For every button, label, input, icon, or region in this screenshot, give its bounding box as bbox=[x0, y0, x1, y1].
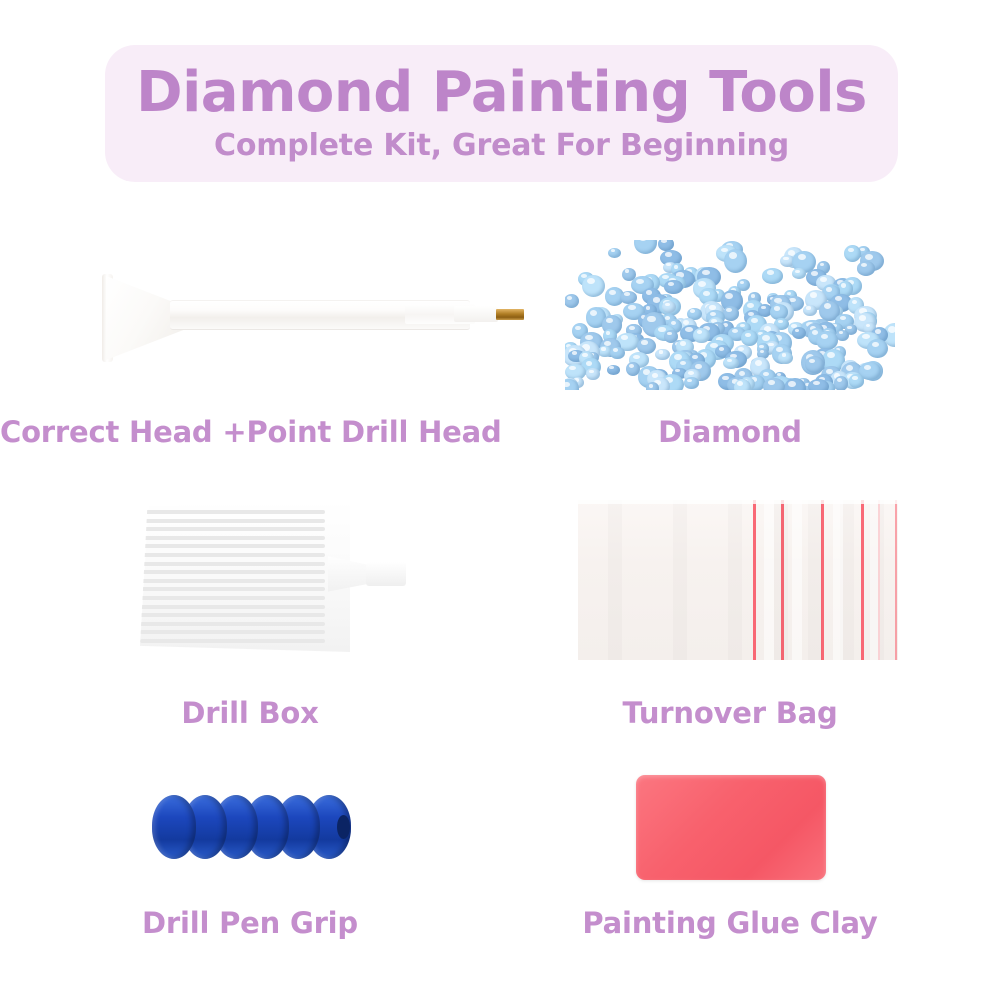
tray-groove bbox=[140, 562, 325, 566]
caption-diamond: Diamond bbox=[500, 415, 960, 449]
pen-grip-hole bbox=[337, 815, 350, 839]
pen-grip-ring bbox=[152, 795, 196, 859]
tray-handle bbox=[366, 562, 406, 586]
diamond-drill bbox=[849, 374, 865, 387]
bag-fold bbox=[774, 500, 788, 660]
bag-red-stripe bbox=[861, 500, 864, 660]
bag-sheen bbox=[764, 500, 774, 660]
diamond-drill bbox=[792, 268, 806, 279]
diamond-drill bbox=[741, 330, 759, 346]
tray-groove bbox=[140, 605, 325, 609]
pen-gold-tip bbox=[496, 309, 524, 320]
tray-groove bbox=[140, 570, 325, 574]
diamond-drill bbox=[634, 240, 657, 254]
infographic-page: Diamond Painting Tools Complete Kit, Gre… bbox=[0, 0, 1000, 1000]
diamond-drill bbox=[724, 249, 747, 273]
bag-red-stripe bbox=[895, 500, 897, 660]
glue-clay-block bbox=[636, 775, 826, 880]
product-image-painting-glue-clay bbox=[636, 775, 826, 880]
diamond-drill bbox=[867, 339, 888, 358]
tray-groove bbox=[140, 596, 325, 600]
bag-fold bbox=[608, 500, 622, 660]
diamond-drill bbox=[762, 268, 783, 283]
pen-collar bbox=[454, 306, 498, 322]
tray-groove bbox=[140, 536, 325, 540]
diamond-drill bbox=[582, 275, 605, 297]
bag-sheen bbox=[833, 500, 843, 660]
diamond-drill bbox=[608, 248, 621, 258]
diamond-drill bbox=[610, 347, 625, 360]
diamond-drill bbox=[607, 365, 620, 375]
diamond-drill bbox=[565, 294, 579, 308]
diamond-drill bbox=[834, 376, 849, 390]
bag-fold bbox=[808, 500, 822, 660]
product-image-drill-pen-grip bbox=[152, 795, 352, 863]
tray-groove bbox=[140, 527, 325, 531]
tray-groove bbox=[140, 544, 325, 548]
caption-drill-box: Drill Box bbox=[0, 696, 500, 730]
tray-groove bbox=[140, 519, 325, 523]
product-image-turnover-bag bbox=[578, 500, 898, 660]
tray-groove bbox=[140, 639, 325, 643]
diamond-drill bbox=[684, 377, 700, 389]
tray-groove bbox=[140, 613, 325, 617]
diamond-drill bbox=[586, 368, 600, 381]
header-card: Diamond Painting Tools Complete Kit, Gre… bbox=[105, 45, 898, 182]
diamond-drill bbox=[734, 379, 751, 390]
caption-correct-head-point-drill-head: Correct Head +Point Drill Head bbox=[0, 415, 500, 449]
product-image-drill-pen bbox=[50, 258, 490, 378]
diamond-drill bbox=[664, 280, 683, 295]
caption-drill-pen-grip: Drill Pen Grip bbox=[0, 906, 500, 940]
tray-groove bbox=[140, 553, 325, 557]
diamond-drill bbox=[784, 378, 806, 390]
diamond-drill bbox=[763, 378, 785, 390]
tray-groove bbox=[140, 579, 325, 583]
diamond-drill bbox=[723, 306, 739, 321]
diamond-drill bbox=[646, 382, 660, 390]
page-subtitle: Complete Kit, Great For Beginning bbox=[214, 128, 789, 163]
bag-fold bbox=[673, 500, 687, 660]
diamond-drill bbox=[655, 349, 669, 360]
diamond-drill bbox=[857, 261, 875, 275]
tray-groove bbox=[140, 510, 325, 514]
caption-turnover-bag: Turnover Bag bbox=[500, 696, 960, 730]
caption-painting-glue-clay: Painting Glue Clay bbox=[500, 906, 960, 940]
diamond-drill bbox=[792, 327, 806, 339]
bag-red-stripe bbox=[753, 500, 756, 660]
diamond-drill bbox=[620, 291, 637, 304]
bag-sheen bbox=[792, 500, 802, 660]
tray-groove bbox=[140, 630, 325, 634]
product-image-diamond-drills bbox=[565, 240, 895, 390]
diamond-drill bbox=[805, 356, 824, 373]
diamond-drill bbox=[808, 379, 828, 390]
bag-fold bbox=[728, 500, 742, 660]
page-title: Diamond Painting Tools bbox=[136, 64, 867, 123]
tray-groove bbox=[140, 622, 325, 626]
diamond-drill bbox=[844, 245, 861, 262]
diamond-drill bbox=[693, 328, 709, 343]
diamond-drill bbox=[803, 305, 817, 317]
product-image-drill-box bbox=[130, 488, 410, 666]
diamond-drill bbox=[778, 352, 792, 364]
bag-sheen bbox=[870, 500, 880, 660]
bag-top-edge bbox=[578, 500, 898, 504]
tray-grooves bbox=[140, 500, 325, 652]
tray-groove bbox=[140, 587, 325, 591]
